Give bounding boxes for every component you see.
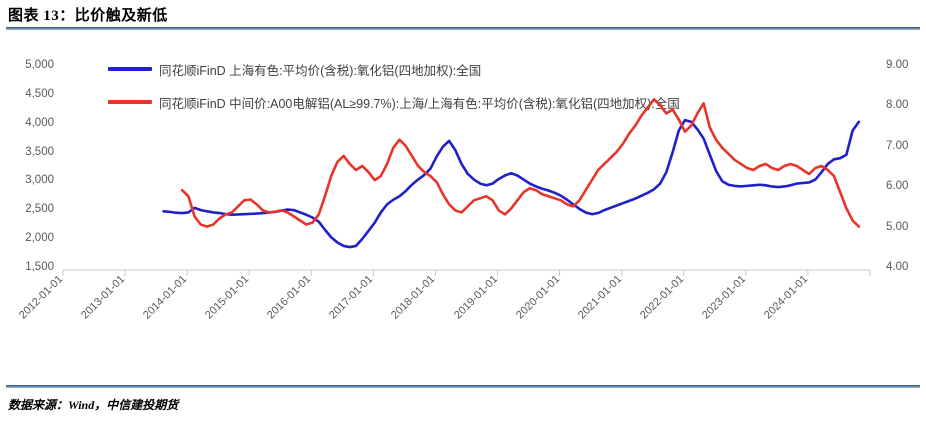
y-left-tick-2: 2,500 — [25, 203, 54, 215]
source-divider — [6, 385, 920, 388]
y-left-tick-3: 3,000 — [25, 174, 54, 186]
series-line-oxide-price — [164, 120, 859, 247]
title-divider — [6, 27, 920, 30]
figure-title: 图表 13：比价触及新低 — [8, 4, 168, 25]
y-right-tick-1: 5.00 — [886, 221, 908, 233]
figure-source: 数据来源：Wind，中信建投期货 — [8, 396, 178, 413]
y-right-tick-0: 4.00 — [886, 261, 908, 273]
series-line-price-ratio — [182, 99, 859, 226]
y-left-tick-6: 4,500 — [25, 88, 54, 100]
figure-container: 图表 13：比价触及新低 同花顺iFinD 上海有色:平均价(含税):氧化铝(四… — [0, 0, 926, 425]
y-left-tick-7: 5,000 — [25, 59, 54, 71]
y-left-tick-4: 3,500 — [25, 146, 54, 158]
y-left-tick-5: 4,000 — [25, 117, 54, 129]
y-left-tick-0: 1,500 — [25, 261, 54, 273]
y-right-tick-3: 7.00 — [886, 140, 908, 152]
y-right-tick-4: 8.00 — [886, 99, 908, 111]
y-right-tick-5: 9.00 — [886, 59, 908, 71]
y-left-tick-1: 2,000 — [25, 232, 54, 244]
y-right-tick-2: 6.00 — [886, 180, 908, 192]
